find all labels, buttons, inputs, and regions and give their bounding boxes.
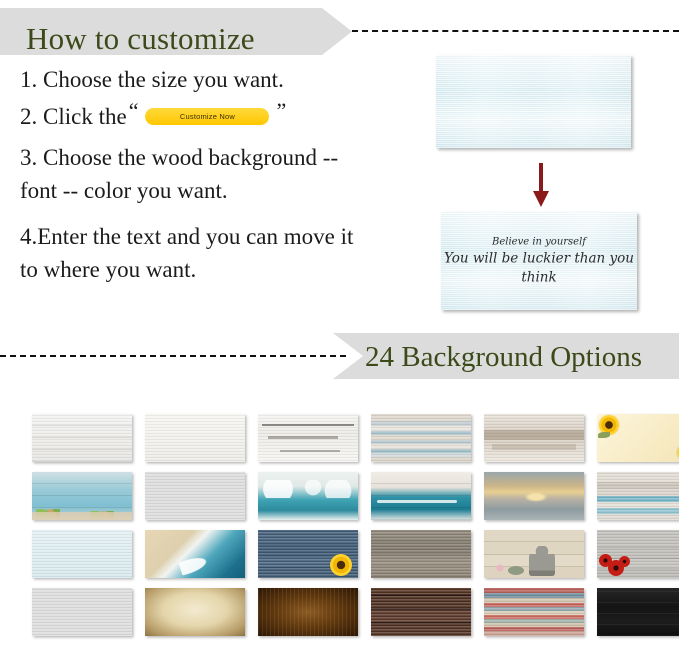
swatch-row xyxy=(32,588,672,636)
swatch-blue-gray-beach-wood[interactable] xyxy=(597,472,679,520)
swatch-vintage-parchment[interactable] xyxy=(145,588,245,636)
swatch-golden-brown-plank[interactable] xyxy=(32,588,132,636)
sunflower-icon xyxy=(330,554,352,576)
wood-grain xyxy=(484,588,584,636)
swatch-navy-wood-sunflower[interactable] xyxy=(258,530,358,578)
dark-streak xyxy=(262,424,354,426)
instruction-list: 1. Choose the size you want. 2. Click th… xyxy=(20,68,420,301)
sign-text-line-1: Believe in yourself xyxy=(441,235,637,250)
step-4: 4.Enter the text and you can move it to … xyxy=(20,221,360,286)
arrow-shaft xyxy=(539,163,543,193)
swatch-row xyxy=(32,530,672,578)
sign-text-line-2: You will be luckier than you think xyxy=(441,250,637,288)
how-to-customize-banner: How to customize xyxy=(0,8,352,55)
plank-lines xyxy=(371,472,471,520)
wood-grain xyxy=(371,414,471,462)
wood-grain xyxy=(145,472,245,520)
swatch-pastel-striped-plank[interactable] xyxy=(484,588,584,636)
step-1: 1. Choose the size you want. xyxy=(20,68,420,91)
background-options-banner: 24 Background Options xyxy=(333,333,679,379)
wave-foam xyxy=(377,500,457,503)
poppy-icon xyxy=(619,556,630,567)
swatch-beach-shoreline[interactable] xyxy=(145,530,245,578)
dark-streak xyxy=(268,436,338,439)
peeling-patch xyxy=(492,444,576,450)
swatch-light-blue-wood[interactable] xyxy=(32,530,132,578)
quote-open: “ xyxy=(129,100,139,122)
foam-texture xyxy=(258,480,358,498)
top-dashed-divider xyxy=(352,30,679,32)
sign-text-block: Believe in yourself You will be luckier … xyxy=(441,235,637,288)
swatch-cream-sunflower[interactable] xyxy=(597,414,679,462)
page-title: How to customize xyxy=(26,17,255,61)
customize-now-button[interactable]: Customize Now xyxy=(145,108,269,125)
swatch-row xyxy=(32,414,672,462)
step-2: 2. Click the “ Customize Now ” xyxy=(20,105,420,128)
swatch-gray-wood-red-poppies[interactable] xyxy=(597,530,679,578)
buddha-icon xyxy=(529,546,555,576)
wood-grain xyxy=(597,588,679,636)
swatch-weathered-taupe-wood[interactable] xyxy=(484,414,584,462)
plank-lines xyxy=(32,414,132,462)
swatch-pale-white-wood[interactable] xyxy=(145,414,245,462)
wave-foam xyxy=(174,530,245,578)
swatch-distressed-white-wood[interactable] xyxy=(258,414,358,462)
swatch-row xyxy=(32,472,672,520)
step-2-prefix: 2. Click the xyxy=(20,105,127,128)
swatch-gray-brown-barnwood[interactable] xyxy=(371,530,471,578)
down-arrow-icon xyxy=(533,163,549,207)
swatch-golden-sunset-seascape[interactable] xyxy=(484,472,584,520)
sand-bottom xyxy=(32,512,132,520)
blank-wood-sign-preview[interactable] xyxy=(436,55,631,148)
wood-grain xyxy=(258,588,358,636)
peeling-patch xyxy=(484,430,584,440)
swatch-deep-brown-rustic-wood[interactable] xyxy=(371,588,471,636)
wood-grain xyxy=(145,414,245,462)
customized-wood-sign-preview[interactable]: Believe in yourself You will be luckier … xyxy=(441,212,637,310)
bottom-dashed-divider xyxy=(0,355,346,357)
sun-glow xyxy=(524,492,548,502)
swatch-dark-walnut-grain[interactable] xyxy=(258,588,358,636)
swatch-multicolor-pastel-plank[interactable] xyxy=(371,414,471,462)
wood-grain xyxy=(32,530,132,578)
swatch-black-chalkboard-wood[interactable] xyxy=(597,588,679,636)
swatch-turquoise-peeling-plank[interactable] xyxy=(145,472,245,520)
wood-grain xyxy=(32,588,132,636)
swatch-teal-ocean-wave-wood[interactable] xyxy=(371,472,471,520)
background-options-grid xyxy=(32,414,672,646)
swatch-teal-splash-abstract[interactable] xyxy=(258,472,358,520)
lotus-icon xyxy=(494,564,506,572)
step-3: 3. Choose the wood background -- font --… xyxy=(20,142,372,207)
swatch-white-washed-plank[interactable] xyxy=(32,414,132,462)
stone-icon xyxy=(508,566,524,575)
arrow-head xyxy=(533,191,549,207)
plank-lines xyxy=(371,530,471,578)
background-options-title: 24 Background Options xyxy=(365,338,642,376)
quote-close: ” xyxy=(276,100,286,122)
wood-grain xyxy=(597,472,679,520)
swatch-underwater-coral-reef[interactable] xyxy=(32,472,132,520)
wood-grain xyxy=(371,588,471,636)
swatch-zen-buddha-wood[interactable] xyxy=(484,530,584,578)
leaf-icon xyxy=(598,432,610,438)
dark-streak xyxy=(280,450,340,452)
wood-texture xyxy=(436,55,631,148)
